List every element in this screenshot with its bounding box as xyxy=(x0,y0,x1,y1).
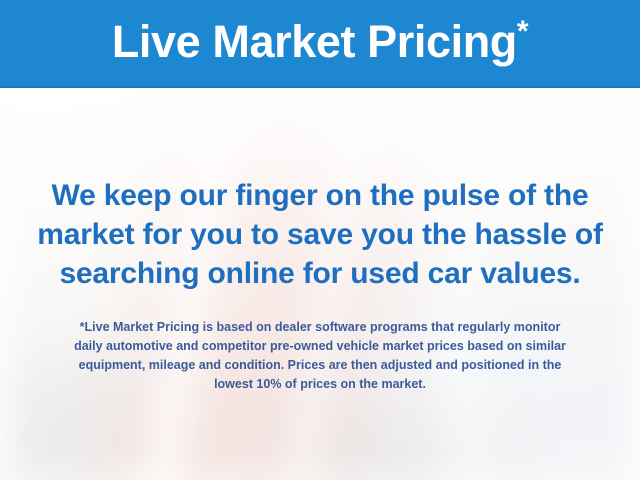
header-banner: Live Market Pricing* xyxy=(0,0,640,88)
live-market-pricing-card: Live Market Pricing* We keep our finger … xyxy=(0,0,640,480)
page-title-asterisk: * xyxy=(517,15,528,48)
page-title: Live Market Pricing* xyxy=(112,19,528,67)
footnote-line: daily automotive and competitor pre-owne… xyxy=(0,337,640,356)
headline-line: We keep our finger on the pulse of the xyxy=(0,176,640,215)
headline-block: We keep our finger on the pulse of the m… xyxy=(0,176,640,293)
footnote-line: lowest 10% of prices on the market. xyxy=(0,375,640,394)
headline-line: searching online for used car values. xyxy=(0,254,640,293)
page-title-text: Live Market Pricing xyxy=(112,16,517,67)
headline-line: market for you to save you the hassle of xyxy=(0,215,640,254)
footnote-line: equipment, mileage and condition. Prices… xyxy=(0,356,640,375)
footnote-block: *Live Market Pricing is based on dealer … xyxy=(0,318,640,394)
footnote-line: *Live Market Pricing is based on dealer … xyxy=(0,318,640,337)
